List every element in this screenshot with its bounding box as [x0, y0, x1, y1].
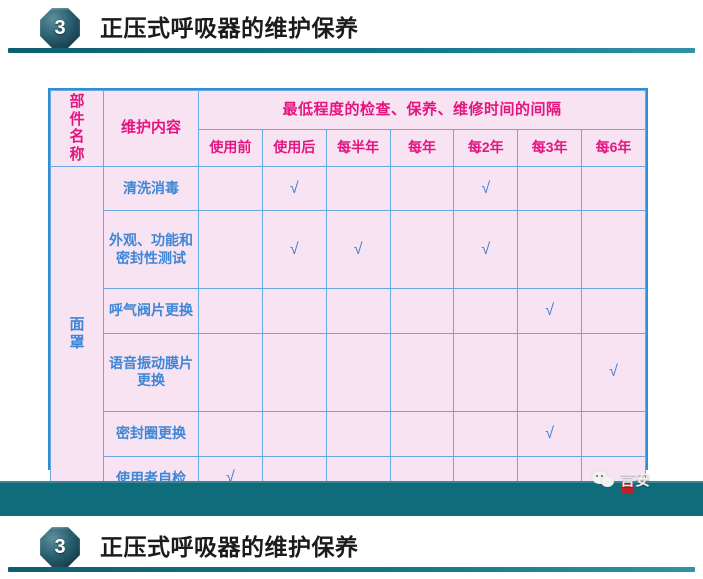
header-divider	[8, 48, 695, 53]
cell-mark: √	[262, 166, 326, 211]
cell-mark: √	[582, 333, 646, 411]
maintenance-table-container: 部件名称 维护内容 最低程度的检查、保养、维修时间的间隔 使用前 使用后 每半年…	[48, 88, 648, 470]
cell-mark	[454, 411, 518, 456]
column-header-every-2-years: 每2年	[454, 129, 518, 166]
table-body: 面罩 清洗消毒 √ √ 外观、功能和密封性测试 √ √ √	[51, 166, 646, 501]
cell-mark	[582, 166, 646, 211]
cell-mark	[390, 211, 454, 289]
part-group-label: 面罩	[70, 316, 85, 351]
table-row: 密封圈更换 √	[51, 411, 646, 456]
column-header-every-3-years: 每3年	[518, 129, 582, 166]
cell-mark	[582, 411, 646, 456]
cell-mark	[326, 166, 390, 211]
table-row: 语音振动膜片更换 √	[51, 333, 646, 411]
wechat-icon	[592, 470, 616, 489]
slide-header-bottom: 3 正压式呼吸器的维护保养	[0, 519, 703, 575]
watermark: 言安	[592, 466, 688, 492]
cell-mark: √	[454, 211, 518, 289]
page-title: 正压式呼吸器的维护保养	[100, 528, 359, 562]
maintenance-table: 部件名称 维护内容 最低程度的检查、保养、维修时间的间隔 使用前 使用后 每半年…	[50, 90, 646, 501]
cell-mark	[199, 411, 263, 456]
cell-mark	[518, 211, 582, 289]
column-header-every-year: 每年	[390, 129, 454, 166]
cell-mark	[326, 333, 390, 411]
cell-mark	[199, 289, 263, 334]
cell-mark	[262, 411, 326, 456]
maintenance-item-label: 密封圈更换	[104, 411, 199, 456]
column-header-part-name: 部件名称	[51, 91, 104, 167]
slide-header-top: 3 正压式呼吸器的维护保养	[0, 0, 703, 56]
column-header-interval-group: 最低程度的检查、保养、维修时间的间隔	[199, 91, 646, 130]
section-number-badge: 3	[40, 527, 80, 567]
table-row: 面罩 清洗消毒 √ √	[51, 166, 646, 211]
column-header-every-6-years: 每6年	[582, 129, 646, 166]
cell-mark: √	[518, 289, 582, 334]
cell-mark	[582, 289, 646, 334]
cell-mark	[326, 289, 390, 334]
wechat-dot-left	[596, 475, 598, 477]
watermark-label: 言安	[620, 469, 650, 490]
maintenance-item-label: 清洗消毒	[104, 166, 199, 211]
cell-mark	[454, 333, 518, 411]
cell-mark	[326, 411, 390, 456]
cell-mark	[518, 333, 582, 411]
cell-mark	[199, 166, 263, 211]
table-head: 部件名称 维护内容 最低程度的检查、保养、维修时间的间隔 使用前 使用后 每半年…	[51, 91, 646, 167]
maintenance-item-label: 呼气阀片更换	[104, 289, 199, 334]
cell-mark	[582, 211, 646, 289]
cell-mark	[454, 289, 518, 334]
section-number-label: 3	[40, 527, 80, 567]
column-header-part-name-label: 部件名称	[70, 93, 85, 164]
section-number-label: 3	[40, 8, 80, 48]
wechat-bubble-small	[601, 476, 614, 487]
page-title: 正压式呼吸器的维护保养	[100, 9, 359, 43]
maintenance-item-label: 外观、功能和密封性测试	[104, 211, 199, 289]
cell-mark	[390, 333, 454, 411]
table-header-row-1: 部件名称 维护内容 最低程度的检查、保养、维修时间的间隔	[51, 91, 646, 130]
cell-mark	[262, 333, 326, 411]
cell-mark	[199, 211, 263, 289]
column-header-maintenance-content: 维护内容	[104, 91, 199, 167]
cell-mark	[262, 289, 326, 334]
table-row: 呼气阀片更换 √	[51, 289, 646, 334]
cell-mark: √	[454, 166, 518, 211]
cell-mark: √	[326, 211, 390, 289]
part-group-cell: 面罩	[51, 166, 104, 501]
cell-mark: √	[518, 411, 582, 456]
column-header-before-use: 使用前	[199, 129, 263, 166]
header-divider	[8, 567, 695, 572]
column-header-every-half-year: 每半年	[326, 129, 390, 166]
maintenance-item-label: 语音振动膜片更换	[104, 333, 199, 411]
section-number-badge: 3	[40, 8, 80, 48]
cell-mark	[390, 411, 454, 456]
cell-mark	[199, 333, 263, 411]
column-header-after-use: 使用后	[262, 129, 326, 166]
cell-mark	[390, 289, 454, 334]
cell-mark	[518, 166, 582, 211]
cell-mark: √	[262, 211, 326, 289]
cell-mark	[390, 166, 454, 211]
table-row: 外观、功能和密封性测试 √ √ √	[51, 211, 646, 289]
